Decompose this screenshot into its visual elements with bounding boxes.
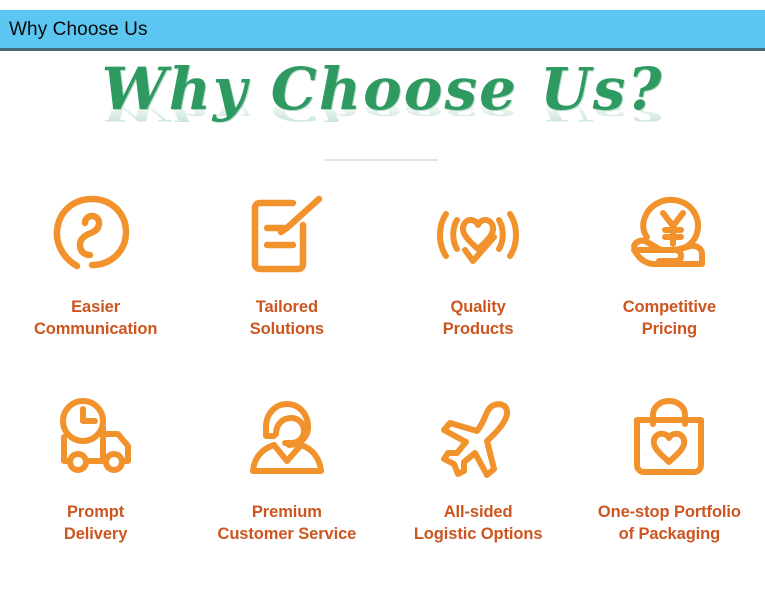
document-pencil-icon	[241, 186, 333, 282]
feature-label: All-sided Logistic Options	[414, 501, 543, 545]
feature-label: Tailored Solutions	[250, 296, 324, 340]
shopping-bag-heart-icon	[623, 391, 715, 487]
feature-grid: Easier Communication Tailored Solutions	[0, 186, 765, 545]
window-title: Why Choose Us	[0, 20, 148, 39]
feature-label: Premium Customer Service	[218, 501, 357, 545]
feature-item-prompt-delivery[interactable]: Prompt Delivery	[0, 391, 191, 545]
feature-item-tailored-solutions[interactable]: Tailored Solutions	[191, 186, 382, 340]
feature-label: Easier Communication	[34, 296, 157, 340]
airplane-icon	[432, 391, 524, 487]
heart-signal-check-icon	[432, 186, 524, 282]
feature-label: Quality Products	[443, 296, 514, 340]
feature-item-easier-communication[interactable]: Easier Communication	[0, 186, 191, 340]
page-heading-block: Why Choose Us? Why Choose Us?	[0, 54, 765, 174]
delivery-truck-clock-icon	[50, 391, 142, 487]
headset-agent-icon	[241, 391, 333, 487]
page-title: Why Choose Us?	[0, 60, 765, 118]
feature-item-quality-products[interactable]: Quality Products	[383, 186, 574, 340]
page-content: Why Choose Us? Why Choose Us? Easier Com…	[0, 54, 765, 599]
window-header-bar: Why Choose Us	[0, 10, 765, 51]
feature-item-one-stop-portfolio-packaging[interactable]: One-stop Portfolio of Packaging	[574, 391, 765, 545]
ear-listening-icon	[50, 186, 142, 282]
feature-row-1: Easier Communication Tailored Solutions	[0, 186, 765, 340]
feature-label: Competitive Pricing	[623, 296, 716, 340]
feature-item-all-sided-logistic-options[interactable]: All-sided Logistic Options	[383, 391, 574, 545]
feature-item-competitive-pricing[interactable]: Competitive Pricing	[574, 186, 765, 340]
feature-label: Prompt Delivery	[64, 501, 127, 545]
feature-label: One-stop Portfolio of Packaging	[598, 501, 741, 545]
heading-divider	[325, 159, 438, 161]
feature-row-2: Prompt Delivery Premium Customer Service	[0, 391, 765, 545]
feature-item-premium-customer-service[interactable]: Premium Customer Service	[191, 391, 382, 545]
hand-coin-yen-icon	[623, 186, 715, 282]
